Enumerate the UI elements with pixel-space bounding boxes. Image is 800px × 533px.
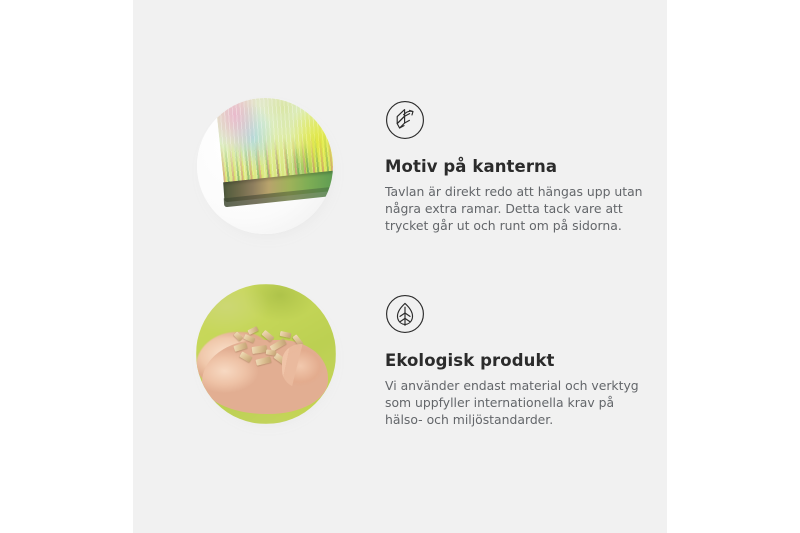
product-feature-banner: Motiv på kanterna Tavlan är direkt redo … [0, 0, 800, 533]
feature-title: Motiv på kanterna [385, 157, 665, 176]
feature-media-1 [190, 78, 338, 238]
canvas-edge-print-icon [385, 100, 425, 140]
feature-description: Vi använder endast material och verktyg … [385, 377, 653, 428]
feature-text-1: Motiv på kanterna Tavlan är direkt redo … [385, 78, 665, 234]
feature-item-canvas-edges: Motiv på kanterna Tavlan är direkt redo … [190, 78, 665, 238]
feature-media-2 [190, 272, 338, 432]
hands-holding-wood-chips-photo [196, 284, 336, 424]
feature-item-eco-product: Ekologisk produkt Vi använder endast mat… [190, 272, 665, 432]
feature-title: Ekologisk produkt [385, 351, 665, 370]
feature-text-2: Ekologisk produkt Vi använder endast mat… [385, 272, 665, 428]
canvas-corner-photo [197, 98, 333, 234]
leaf-icon [385, 294, 425, 334]
feature-description: Tavlan är direkt redo att hängas upp uta… [385, 183, 653, 234]
canvas-block [215, 98, 333, 218]
fingers [282, 344, 328, 388]
